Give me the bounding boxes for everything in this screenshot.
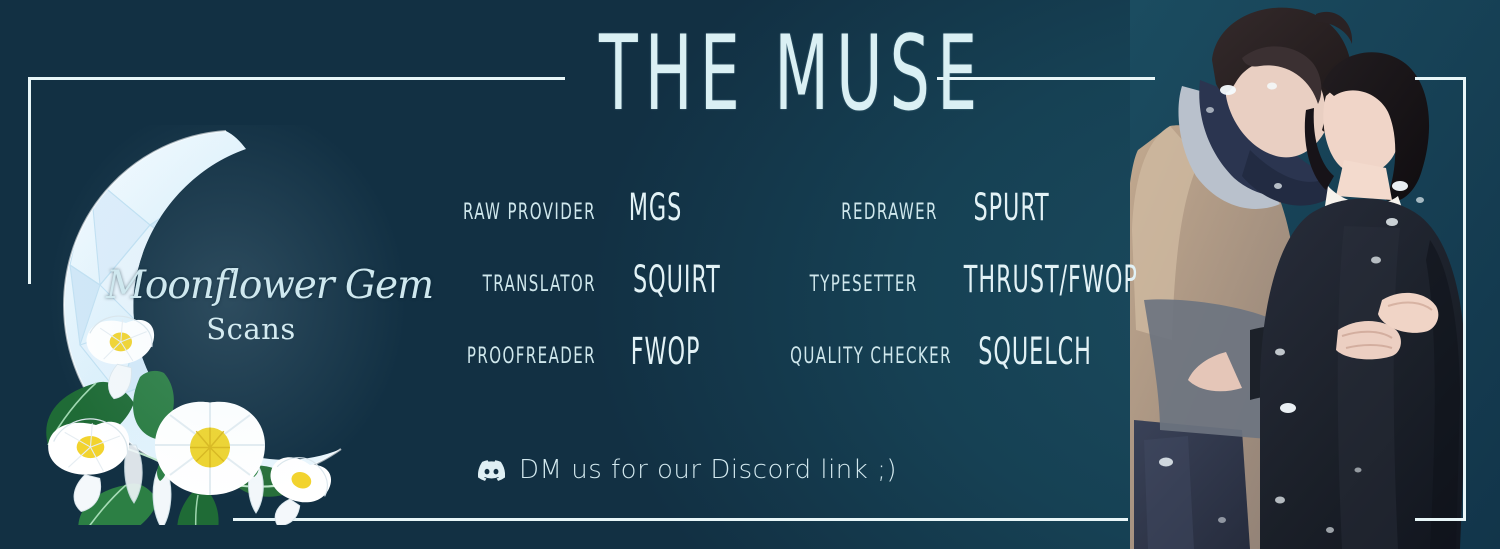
credits-table: RAW PROVIDER MGS REDRAWER SPURT TRANSLAT…: [440, 190, 1160, 406]
logo-wordmark: Moonflower Gem Scans: [106, 263, 396, 346]
frame-top-right-horizontal: [1415, 77, 1466, 80]
credit-value: SQUELCH: [978, 330, 1092, 373]
page-title: THE MUSE: [599, 12, 911, 135]
discord-invite[interactable]: DM us for our Discord link ;): [478, 455, 897, 485]
credit-label: TYPESETTER: [789, 271, 918, 297]
credit-row: PROOFREADER FWOP QUALITY CHECKER SQUELCH: [440, 334, 1160, 406]
frame-right-vertical: [1463, 77, 1466, 520]
credit-redrawer: REDRAWER SPURT: [780, 190, 1160, 226]
credit-value: MGS: [629, 186, 683, 229]
credit-quality-checker: QUALITY CHECKER SQUELCH: [780, 334, 1160, 370]
credit-value: SQUIRT: [633, 258, 721, 301]
credit-proofreader: PROOFREADER FWOP: [440, 334, 780, 370]
credit-translator: TRANSLATOR SQUIRT: [440, 262, 780, 298]
frame-bottom-right-horizontal: [1415, 518, 1466, 521]
credit-label: REDRAWER: [790, 199, 938, 225]
credit-raw-provider: RAW PROVIDER MGS: [440, 190, 780, 226]
credits-page: THE MUSE: [0, 0, 1500, 549]
couple-artwork: [1130, 0, 1500, 549]
credit-value: FWOP: [631, 330, 701, 373]
moonflower-gem-scans-logo: Moonflower Gem Scans: [30, 115, 430, 525]
credit-label: RAW PROVIDER: [450, 199, 596, 225]
credit-row: RAW PROVIDER MGS REDRAWER SPURT: [440, 190, 1160, 262]
credit-label: PROOFREADER: [450, 343, 596, 369]
credit-row: TRANSLATOR SQUIRT TYPESETTER THRUST/FWOP: [440, 262, 1160, 334]
credit-label: QUALITY CHECKER: [790, 343, 938, 369]
title-rule-left: [283, 77, 565, 80]
discord-icon: [478, 460, 505, 481]
credit-value: THRUST/FWOP: [964, 258, 1138, 301]
discord-text: DM us for our Discord link ;): [519, 455, 897, 485]
credit-typesetter: TYPESETTER THRUST/FWOP: [780, 262, 1160, 298]
logo-name-line1: Moonflower Gem: [106, 263, 396, 308]
logo-name-line2: Scans: [106, 312, 396, 346]
credit-label: TRANSLATOR: [450, 271, 596, 297]
credit-value: SPURT: [974, 186, 1050, 229]
couple-illustration: [1130, 0, 1500, 549]
